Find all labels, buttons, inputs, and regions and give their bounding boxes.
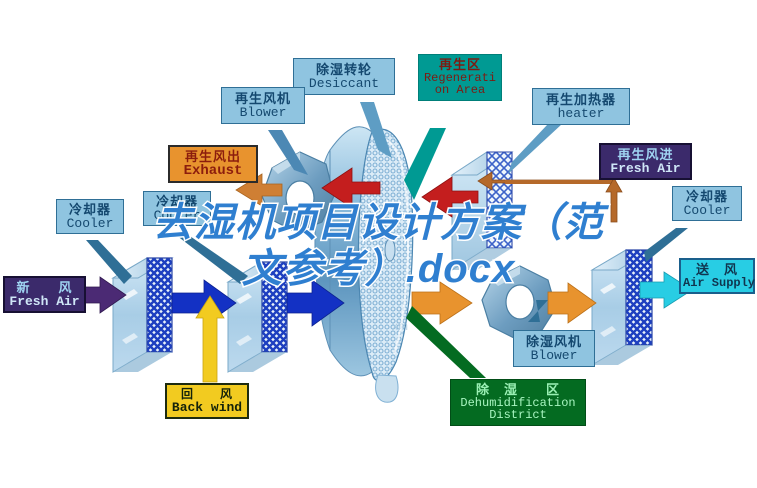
label-back-wind-en: Back wind [169, 401, 245, 415]
label-dehumidification-blower-en: Blower [516, 349, 592, 363]
label-fresh-air[interactable]: 新 风 Fresh Air [3, 276, 86, 313]
label-cooler-left-2[interactable]: 冷却器 Cooler [143, 191, 211, 226]
label-dehumidification-district-en2: District [453, 409, 583, 422]
label-regeneration-area-cn: 再生区 [421, 58, 499, 72]
label-desiccant-en: Desiccant [296, 77, 392, 91]
label-fresh-air-en: Fresh Air [7, 295, 82, 309]
label-dehumidification-blower[interactable]: 除湿风机 Blower [513, 330, 595, 367]
label-regen-fresh-air[interactable]: 再生风进 Fresh Air [599, 143, 692, 180]
label-cooler-right[interactable]: 冷却器 Cooler [672, 186, 742, 221]
label-dehumidification-blower-cn: 除湿风机 [516, 335, 592, 349]
label-cooler-left-2-en: Cooler [146, 209, 208, 223]
label-dehumidification-district[interactable]: 除 湿 区 Dehumidification District [450, 379, 586, 426]
label-regeneration-blower-cn: 再生风机 [224, 92, 302, 106]
label-desiccant[interactable]: 除湿转轮 Desiccant [293, 58, 395, 95]
svg-text:xm: xm [392, 319, 408, 333]
label-regeneration-blower-en: Blower [224, 106, 302, 120]
label-regeneration-heater-en: heater [535, 107, 627, 121]
arrow-blower-to-cooler [548, 283, 596, 323]
label-regeneration-area-en2: on Area [421, 84, 499, 97]
diagram-canvas: xm [0, 0, 757, 488]
label-regeneration-area[interactable]: 再生区 Regenerati on Area [418, 54, 502, 101]
label-cooler-left-1-en: Cooler [59, 217, 121, 231]
label-regen-fresh-air-cn: 再生风进 [603, 148, 688, 162]
label-back-wind[interactable]: 回 风 Back wind [165, 383, 249, 419]
regeneration-heater [452, 152, 512, 270]
label-cooler-right-cn: 冷却器 [675, 190, 739, 204]
label-air-supply[interactable]: 送 风 Air Supply [679, 258, 755, 294]
desiccant-wheel: xm [315, 127, 413, 403]
label-fresh-air-cn: 新 风 [7, 281, 82, 295]
label-exhaust[interactable]: 再生风出 Exhaust [168, 145, 258, 183]
label-regeneration-blower[interactable]: 再生风机 Blower [221, 87, 305, 124]
label-air-supply-cn: 送 风 [683, 263, 751, 277]
cooler-coil-3 [592, 250, 652, 365]
label-regen-fresh-air-en: Fresh Air [603, 162, 688, 176]
label-air-supply-en: Air Supply [683, 277, 751, 290]
label-cooler-right-en: Cooler [675, 204, 739, 218]
label-desiccant-cn: 除湿转轮 [296, 63, 392, 77]
label-regeneration-heater[interactable]: 再生加热器 heater [532, 88, 630, 125]
label-cooler-left-1-cn: 冷却器 [59, 203, 121, 217]
label-cooler-left-1[interactable]: 冷却器 Cooler [56, 199, 124, 234]
label-exhaust-cn: 再生风出 [172, 150, 254, 164]
label-back-wind-cn: 回 风 [169, 388, 245, 401]
arrow-fresh-air-riser [606, 178, 622, 222]
label-exhaust-en: Exhaust [172, 164, 254, 179]
label-regeneration-heater-cn: 再生加热器 [535, 93, 627, 107]
label-dehumidification-district-cn: 除 湿 区 [453, 383, 583, 397]
label-cooler-left-2-cn: 冷却器 [146, 195, 208, 209]
